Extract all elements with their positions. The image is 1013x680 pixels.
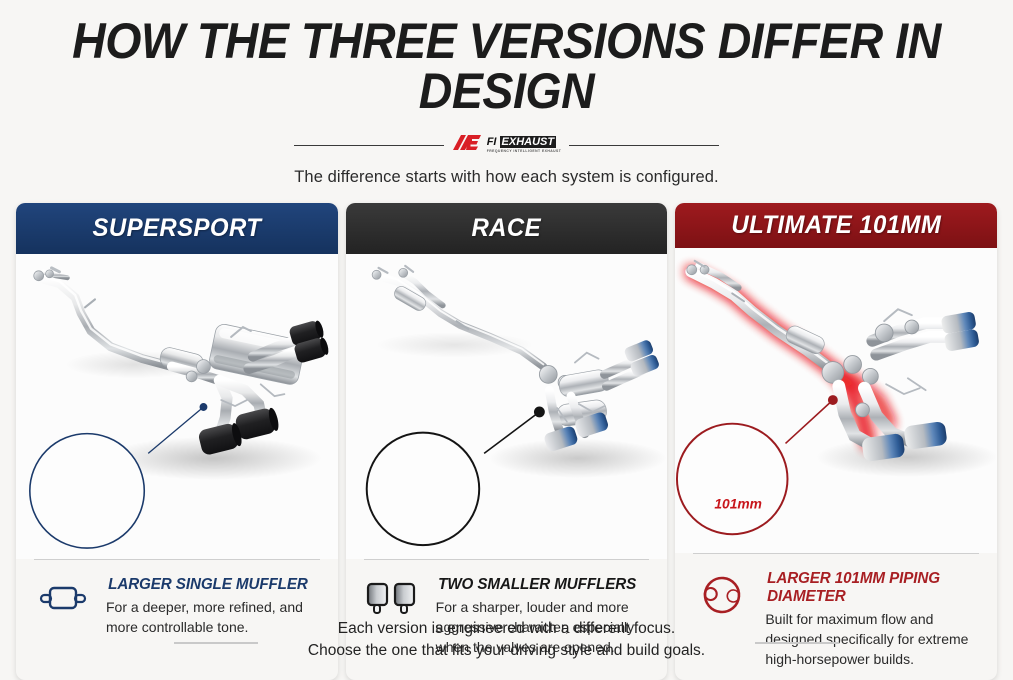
brand-text: FI EXHAUST FREQUENCY INTELLIGENT EXHAUST bbox=[487, 137, 562, 153]
single-muffler-icon bbox=[32, 576, 94, 616]
page-title: HOW THE THREE VERSIONS DIFFER IN DESIGN bbox=[35, 0, 977, 116]
brand-logo-row: FI EXHAUST FREQUENCY INTELLIGENT EXHAUST bbox=[0, 134, 1013, 156]
card-header-ultimate: ULTIMATE 101MM bbox=[675, 203, 997, 248]
bottom-note-line-1: Each version is engineered with a differ… bbox=[0, 618, 1013, 640]
footer-heading-supersport: LARGER SINGLE MUFFLER bbox=[108, 576, 317, 594]
version-card-supersport[interactable]: SUPERSPORT bbox=[16, 203, 338, 680]
bottom-note: Each version is engineered with a differ… bbox=[0, 618, 1013, 662]
version-card-ultimate[interactable]: ULTIMATE 101MM bbox=[675, 203, 997, 680]
two-mufflers-icon bbox=[362, 576, 424, 620]
brand-word-exhaust: EXHAUST bbox=[500, 136, 557, 148]
large-pipe-diameter-icon bbox=[691, 570, 753, 616]
race-exhaust-system-photo bbox=[346, 254, 668, 559]
card-title-race: RACE bbox=[472, 214, 542, 243]
fi-exhaust-brand: FI EXHAUST FREQUENCY INTELLIGENT EXHAUST bbox=[444, 133, 570, 157]
fi-exhaust-logo-icon bbox=[452, 133, 482, 157]
callout-label-101mm: 101mm bbox=[715, 496, 763, 512]
page-subtitle: The difference starts with how each syst… bbox=[0, 168, 1013, 187]
card-title-supersport: SUPERSPORT bbox=[92, 214, 261, 243]
card-header-supersport: SUPERSPORT bbox=[16, 203, 338, 254]
brand-wordmark: FI EXHAUST bbox=[487, 137, 556, 148]
version-card-race[interactable]: RACE bbox=[346, 203, 668, 680]
card-header-race: RACE bbox=[346, 203, 668, 254]
footer-heading-ultimate: LARGER 101MM PIPING DIAMETER bbox=[767, 570, 976, 606]
footer-heading-race: TWO SMALLER MUFFLERS bbox=[438, 576, 647, 594]
logo-rule-right bbox=[569, 145, 719, 146]
ultimate-exhaust-system-photo: 101mm bbox=[675, 248, 997, 553]
card-title-ultimate: ULTIMATE 101MM bbox=[731, 211, 941, 240]
supersport-exhaust-system-photo bbox=[16, 254, 338, 559]
version-cards: SUPERSPORT bbox=[0, 203, 1013, 680]
brand-tagline: FREQUENCY INTELLIGENT EXHAUST bbox=[487, 150, 562, 153]
logo-rule-left bbox=[294, 145, 444, 146]
bottom-note-line-2: Choose the one that fits your driving st… bbox=[0, 640, 1013, 662]
brand-word-fi: FI bbox=[487, 136, 497, 148]
